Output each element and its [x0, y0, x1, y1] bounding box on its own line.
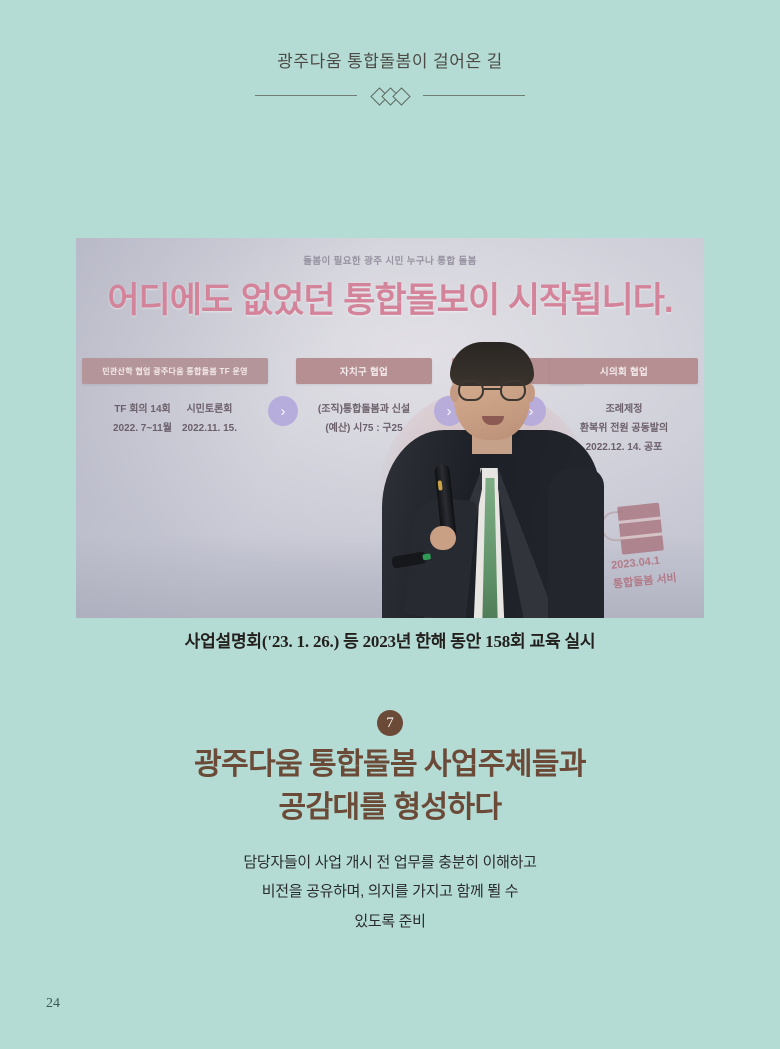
- section-body-text: 담당자들이 사업 개시 전 업무를 충분히 이해하고 비전을 공유하며, 의지를…: [0, 848, 780, 936]
- section-body-line-1: 담당자들이 사업 개시 전 업무를 충분히 이해하고: [0, 848, 780, 877]
- page-header: 광주다움 통합돌봄이 걸어온 길: [0, 52, 780, 106]
- flow-column-tf: 민관산학 협업 광주다움 통합돌봄 TF 운영 TF 회의 14회 2022. …: [82, 358, 268, 438]
- speaker-hand-left: [430, 526, 456, 550]
- speaker-glasses-left-lens: [458, 380, 484, 401]
- page-header-title: 광주다움 통합돌봄이 걸어온 길: [0, 52, 780, 72]
- presentation-photo: 돌봄이 필요한 광주 시민 누구나 통합 돌봄 어디에도 없었던 통합돌보이 시…: [76, 238, 704, 618]
- flow-item-sub: 2022.11. 15.: [182, 419, 237, 438]
- clip-note-date: 2023.04.1: [611, 555, 661, 572]
- speaker-figure: [376, 318, 606, 618]
- speaker-hair: [450, 342, 534, 386]
- flow-arrow-icon: ›: [268, 396, 298, 426]
- section-heading-line-2: 공감대를 형성하다: [0, 787, 780, 830]
- slide-headline-text: 어디에도 없었던 통합돌보이 시작됩니다.: [76, 272, 704, 323]
- flow-item-sub: 2022. 7~11월: [113, 419, 172, 438]
- section-heading: 광주다움 통합돌봄 사업주체들과 공감대를 형성하다: [0, 744, 780, 829]
- speaker-ear-right: [526, 384, 535, 402]
- page-number: 24: [46, 996, 60, 1012]
- flow-item-title: TF 회의 14회: [113, 400, 172, 419]
- speaker-glasses-right-lens: [500, 380, 526, 401]
- binder-clip-icon: 2023.04.1 통합돌봄 서비: [594, 489, 702, 614]
- photo-caption: 사업설명회('23. 1. 26.) 등 2023년 한해 동안 158회 교육…: [0, 627, 780, 652]
- speaker-glasses-bridge: [484, 388, 500, 390]
- clip-note-label: 통합돌봄 서비: [612, 569, 677, 592]
- section-body-line-3: 있도록 준비: [0, 907, 780, 936]
- section-number-badge: 7: [377, 710, 403, 736]
- diamond-divider-icon: [255, 86, 525, 106]
- flow-chip-label: 민관산학 협업 광주다움 통합돌봄 TF 운영: [82, 358, 268, 384]
- divider-diamonds: [357, 86, 423, 106]
- diamond-icon: [392, 87, 410, 105]
- section-body-line-2: 비전을 공유하며, 의지를 가지고 함께 뛸 수: [0, 877, 780, 906]
- section-heading-line-1: 광주다움 통합돌봄 사업주체들과: [0, 744, 780, 787]
- slide-kicker-text: 돌봄이 필요한 광주 시민 누구나 통합 돌봄: [76, 253, 704, 267]
- flow-item-title: 시민토론회: [182, 400, 237, 419]
- clip-body: [617, 503, 664, 555]
- speaker-arm-right: [548, 468, 604, 618]
